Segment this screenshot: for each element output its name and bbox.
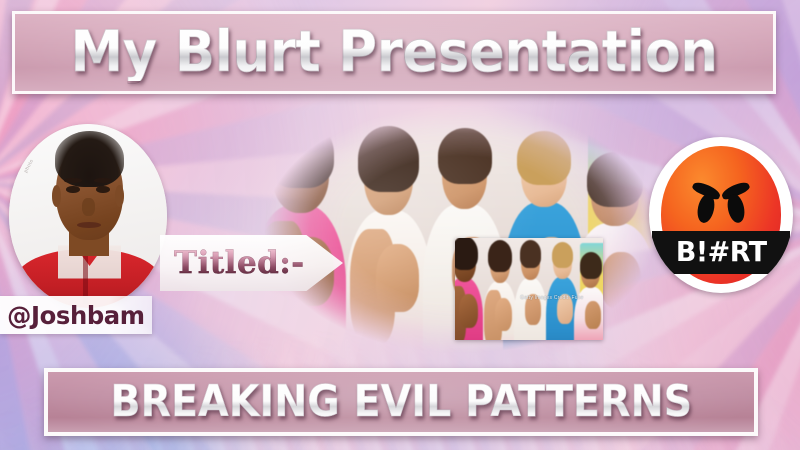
title-banner: My Blurt Presentation [12, 11, 776, 94]
inset-watermark: Getty Images Credit: Fuse [520, 295, 583, 302]
titled-arrow-banner: Titled:- [160, 235, 343, 291]
slide-canvas: My Blurt Presentation photo @Joshbam [0, 0, 800, 450]
handle-label: @Joshbam [0, 296, 152, 334]
subtitle-banner: BREAKING EVIL PATTERNS [44, 368, 758, 436]
inset-background [455, 238, 603, 340]
avatar-eyebrow-right [94, 178, 111, 183]
avatar: photo [9, 124, 167, 308]
avatar-eyebrow-left [64, 178, 81, 183]
photo-inset-thumbnail: Getty Images Credit: Fuse [455, 238, 603, 340]
avatar-ear-left [52, 185, 61, 207]
title-text: My Blurt Presentation [70, 24, 717, 81]
avatar-nose [82, 198, 95, 216]
blurt-wordmark-bar: B!#RT [652, 231, 790, 275]
blurt-eye-right [725, 193, 746, 224]
blurt-wordmark-text: B!#RT [676, 238, 767, 266]
titled-text: Titled:- [174, 248, 305, 279]
child-figure [574, 243, 603, 340]
blurt-logo: B!#RT [649, 137, 793, 293]
blurt-eye-left [695, 193, 716, 224]
subtitle-text: BREAKING EVIL PATTERNS [110, 380, 692, 424]
handle-text: @Joshbam [7, 303, 145, 328]
